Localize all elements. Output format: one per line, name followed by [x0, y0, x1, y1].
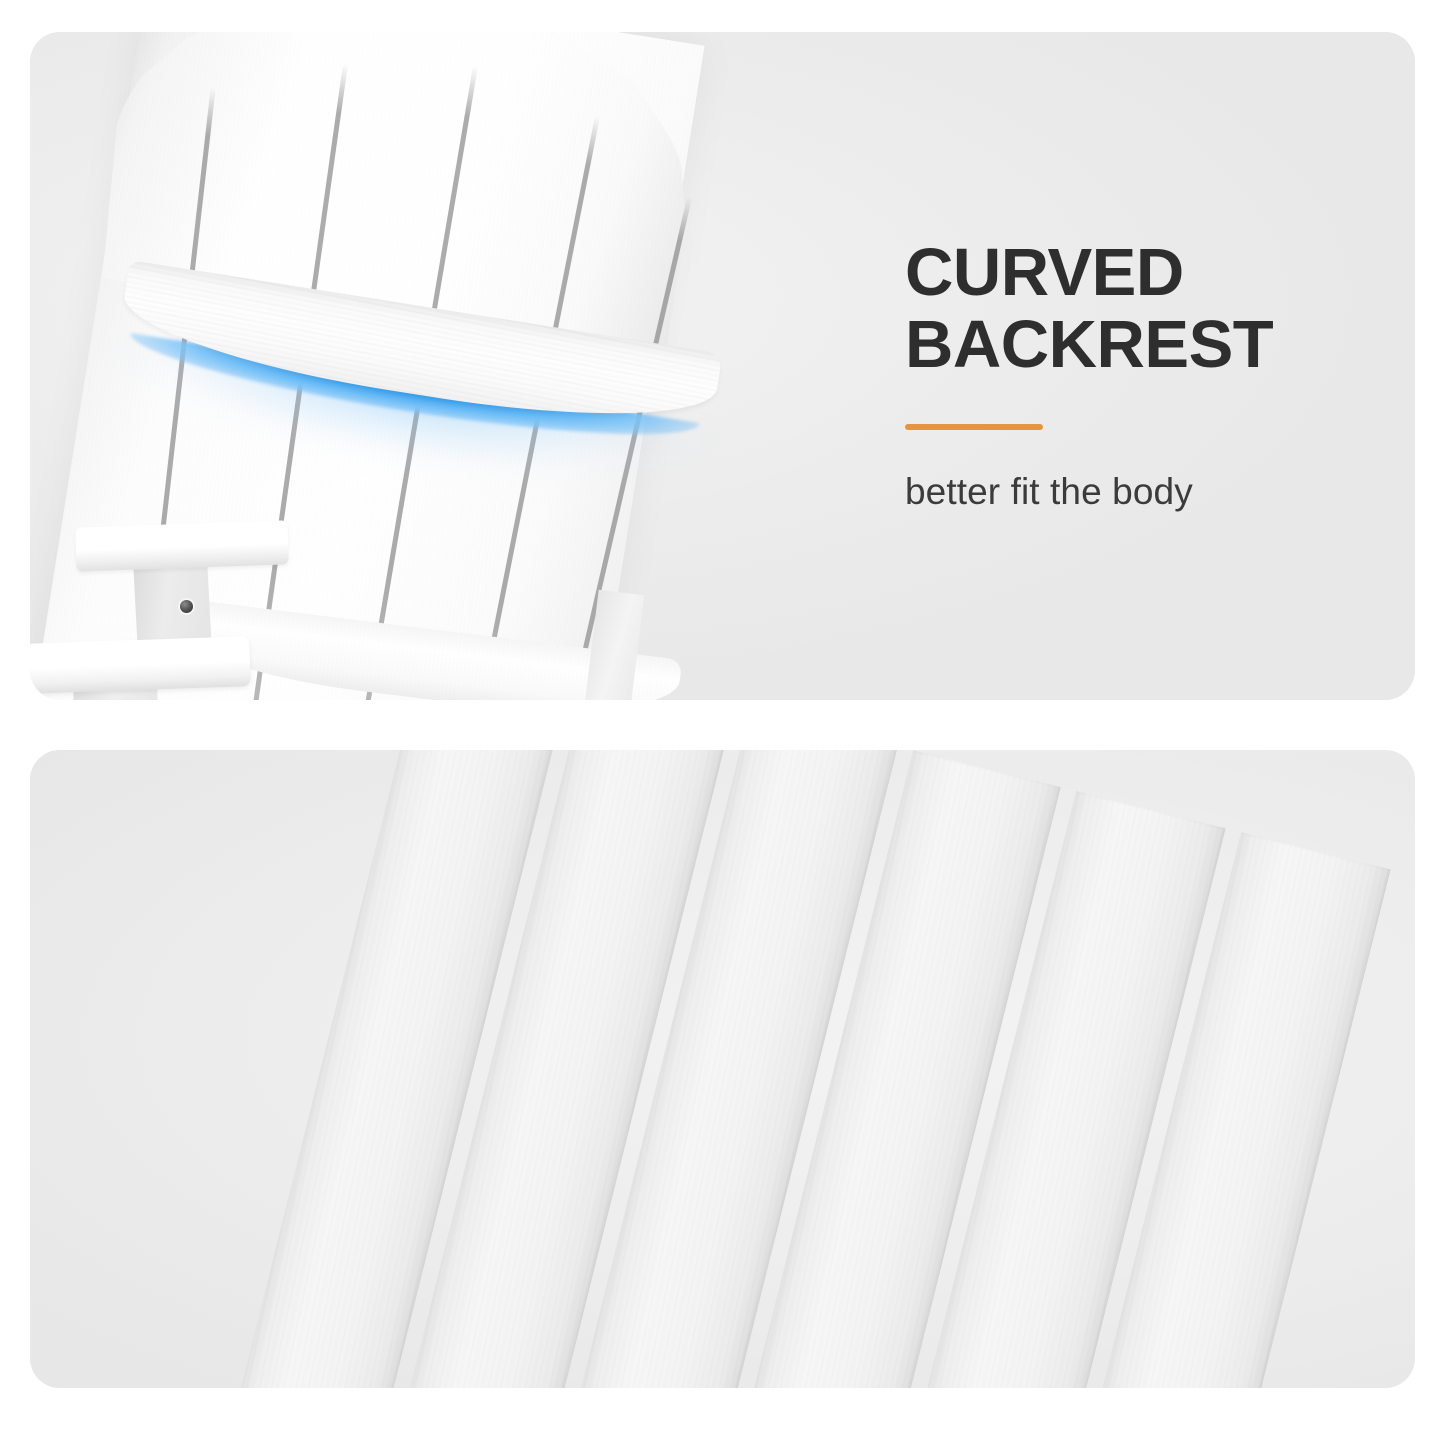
- armrest-photo: [30, 750, 1415, 1388]
- accent-divider: [905, 424, 1043, 430]
- feature-panel-wide-armrests: WIDE ARMRESTS for better arm relaxation: [30, 750, 1415, 1388]
- panel-subline: better fit the body: [905, 470, 1375, 514]
- armrest-lower: [30, 636, 251, 694]
- panel-headline: CURVED BACKREST: [905, 237, 1375, 380]
- feature-panel-curved-backrest: CURVED BACKREST better fit the body: [30, 32, 1415, 700]
- chair-back-slats: [188, 750, 1415, 1388]
- backrest-text-block: CURVED BACKREST better fit the body: [905, 237, 1375, 515]
- armrest-upper: [75, 520, 288, 571]
- screw-head: [180, 600, 193, 613]
- infographic-page: CURVED BACKREST better fit the body: [0, 0, 1445, 1445]
